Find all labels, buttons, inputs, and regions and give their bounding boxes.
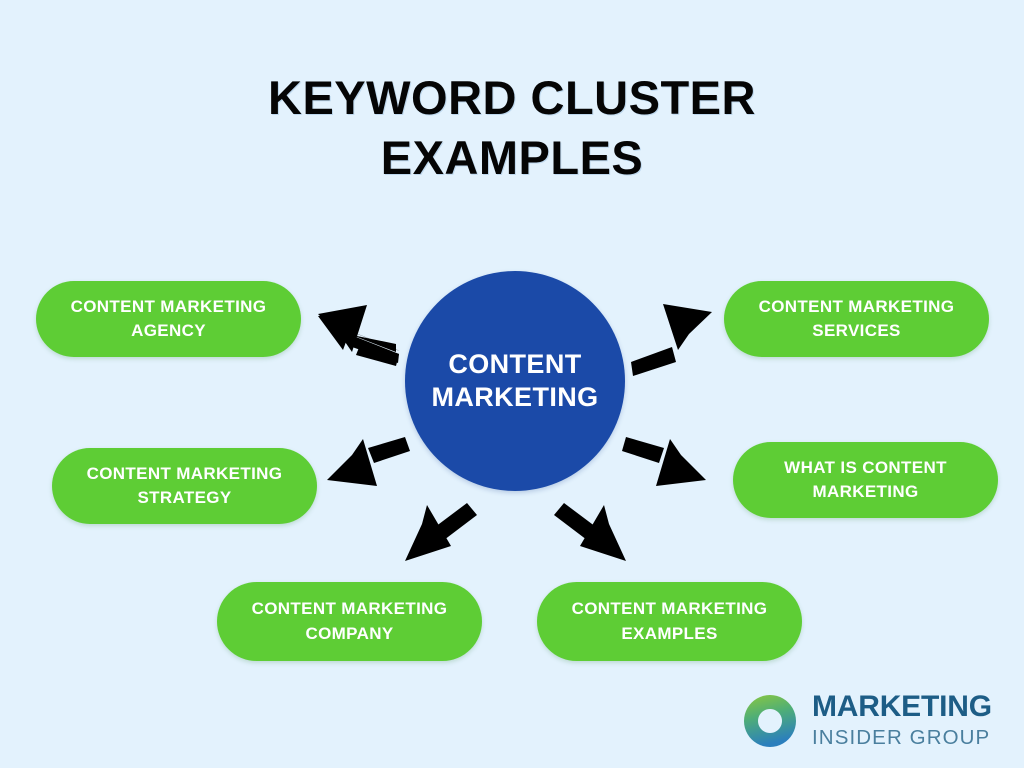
keyword-node-agency-label-line-1: CONTENT MARKETING — [71, 295, 267, 319]
keyword-node-examples[interactable]: CONTENT MARKETING EXAMPLES — [537, 582, 802, 661]
brand-logo: MARKETING INSIDER GROUP — [742, 692, 992, 750]
brand-logo-text: MARKETING INSIDER GROUP — [812, 692, 992, 750]
keyword-node-services-label: CONTENT MARKETING SERVICES — [759, 295, 955, 343]
ring-logo-icon — [742, 693, 798, 749]
arrow-to-company — [405, 503, 477, 561]
arrow-to-strategy — [327, 437, 410, 486]
keyword-node-company-label-line-1: CONTENT MARKETING — [252, 597, 448, 621]
keyword-node-services[interactable]: CONTENT MARKETING SERVICES — [724, 281, 989, 357]
arrow-to-examples — [554, 503, 626, 561]
arrow-to-whatis — [622, 437, 706, 486]
center-node-label-line-1: CONTENT — [448, 348, 581, 381]
keyword-node-strategy-label: CONTENT MARKETING STRATEGY — [87, 462, 283, 510]
keyword-node-services-label-line-2: SERVICES — [759, 319, 955, 343]
keyword-node-strategy-label-line-1: CONTENT MARKETING — [87, 462, 283, 486]
keyword-node-services-label-line-1: CONTENT MARKETING — [759, 295, 955, 319]
center-node-content-marketing[interactable]: CONTENT MARKETING — [405, 271, 625, 491]
brand-logo-primary: MARKETING — [812, 692, 992, 722]
keyword-node-what-is-content-marketing-label-line-1: WHAT IS CONTENT — [784, 456, 947, 480]
keyword-node-what-is-content-marketing[interactable]: WHAT IS CONTENT MARKETING — [733, 442, 998, 518]
center-node-label-line-2: MARKETING — [431, 381, 598, 414]
keyword-node-agency-label: CONTENT MARKETING AGENCY — [71, 295, 267, 343]
brand-logo-secondary: INSIDER GROUP — [812, 727, 992, 750]
keyword-node-company-label: CONTENT MARKETING COMPANY — [252, 597, 448, 645]
keyword-node-company-label-line-2: COMPANY — [252, 622, 448, 646]
keyword-node-examples-label-line-1: CONTENT MARKETING — [572, 597, 768, 621]
keyword-node-agency[interactable]: CONTENT MARKETING AGENCY — [36, 281, 301, 357]
keyword-node-examples-label-line-2: EXAMPLES — [572, 622, 768, 646]
keyword-node-agency-label-line-2: AGENCY — [71, 319, 267, 343]
keyword-node-strategy-label-line-2: STRATEGY — [87, 486, 283, 510]
arrow-to-services — [631, 304, 712, 376]
keyword-node-what-is-content-marketing-label: WHAT IS CONTENT MARKETING — [784, 456, 947, 504]
keyword-node-what-is-content-marketing-label-line-2: MARKETING — [784, 480, 947, 504]
arrow-to-agency — [318, 305, 400, 366]
keyword-node-company[interactable]: CONTENT MARKETING COMPANY — [217, 582, 482, 661]
keyword-node-strategy[interactable]: CONTENT MARKETING STRATEGY — [52, 448, 317, 524]
keyword-node-examples-label: CONTENT MARKETING EXAMPLES — [572, 597, 768, 645]
